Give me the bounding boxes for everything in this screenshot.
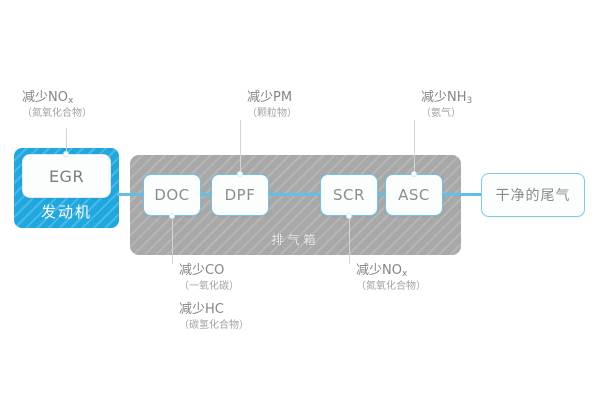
connector-asc-to-output — [441, 193, 483, 196]
callout-nh3-asc: 减少NH3 （氨气） — [421, 90, 472, 120]
leader-line-nox-to-scr — [349, 216, 350, 264]
callout-nox-egr-title: 减少NOx — [22, 90, 92, 107]
callout-pm-dpf-subtitle: （颗粒物） — [247, 107, 297, 120]
callout-nh3-asc-subtitle: （氨气） — [421, 107, 472, 120]
exhaust-box-label: 排气箱 — [130, 231, 461, 248]
leader-line-co-to-doc — [172, 216, 173, 264]
callout-pm-dpf: 减少PM （颗粒物） — [247, 90, 297, 120]
anchor-dot-dpf — [237, 171, 243, 177]
anchor-dot-asc — [411, 171, 417, 177]
node-scr[interactable]: SCR — [320, 174, 378, 216]
callout-nox-scr-subtitle: （氮氧化合物） — [356, 280, 426, 293]
callout-nox-egr-subtitle: （氮氧化合物） — [22, 107, 92, 120]
leader-line-nh3-to-asc — [414, 120, 415, 175]
callout-nh3-asc-title: 减少NH3 — [421, 90, 472, 107]
connector-engine-to-doc — [117, 193, 145, 196]
callout-hc-doc-title: 减少HC — [179, 302, 249, 319]
node-dpf[interactable]: DPF — [211, 174, 269, 216]
leader-line-pm-to-dpf — [240, 120, 241, 175]
anchor-dot-doc — [169, 213, 175, 219]
anchor-dot-egr — [63, 151, 69, 157]
callout-nox-scr-title: 减少NOx — [356, 263, 426, 280]
callout-co-doc-subtitle: （一氧化碳） — [179, 280, 239, 293]
callout-pm-dpf-title: 减少PM — [247, 90, 297, 107]
callout-co-doc: 减少CO （一氧化碳） — [179, 263, 239, 293]
node-egr[interactable]: EGR — [22, 154, 111, 198]
connector-dpf-to-scr — [267, 193, 322, 196]
diagram-canvas: 排气箱 发动机 EGR DOC DPF SCR ASC 干净的尾气 减少NOx … — [0, 0, 600, 400]
anchor-dot-scr — [346, 213, 352, 219]
callout-co-doc-title: 减少CO — [179, 263, 239, 280]
engine-label: 发动机 — [14, 201, 119, 222]
callout-nox-scr: 减少NOx （氮氧化合物） — [356, 263, 426, 293]
callout-nox-egr: 减少NOx （氮氧化合物） — [22, 90, 92, 120]
callout-hc-doc: 减少HC （碳氢化合物） — [179, 302, 249, 332]
node-asc[interactable]: ASC — [385, 174, 443, 216]
node-clean-exhaust-output[interactable]: 干净的尾气 — [481, 173, 585, 217]
node-doc[interactable]: DOC — [143, 174, 201, 216]
callout-hc-doc-subtitle: （碳氢化合物） — [179, 319, 249, 332]
